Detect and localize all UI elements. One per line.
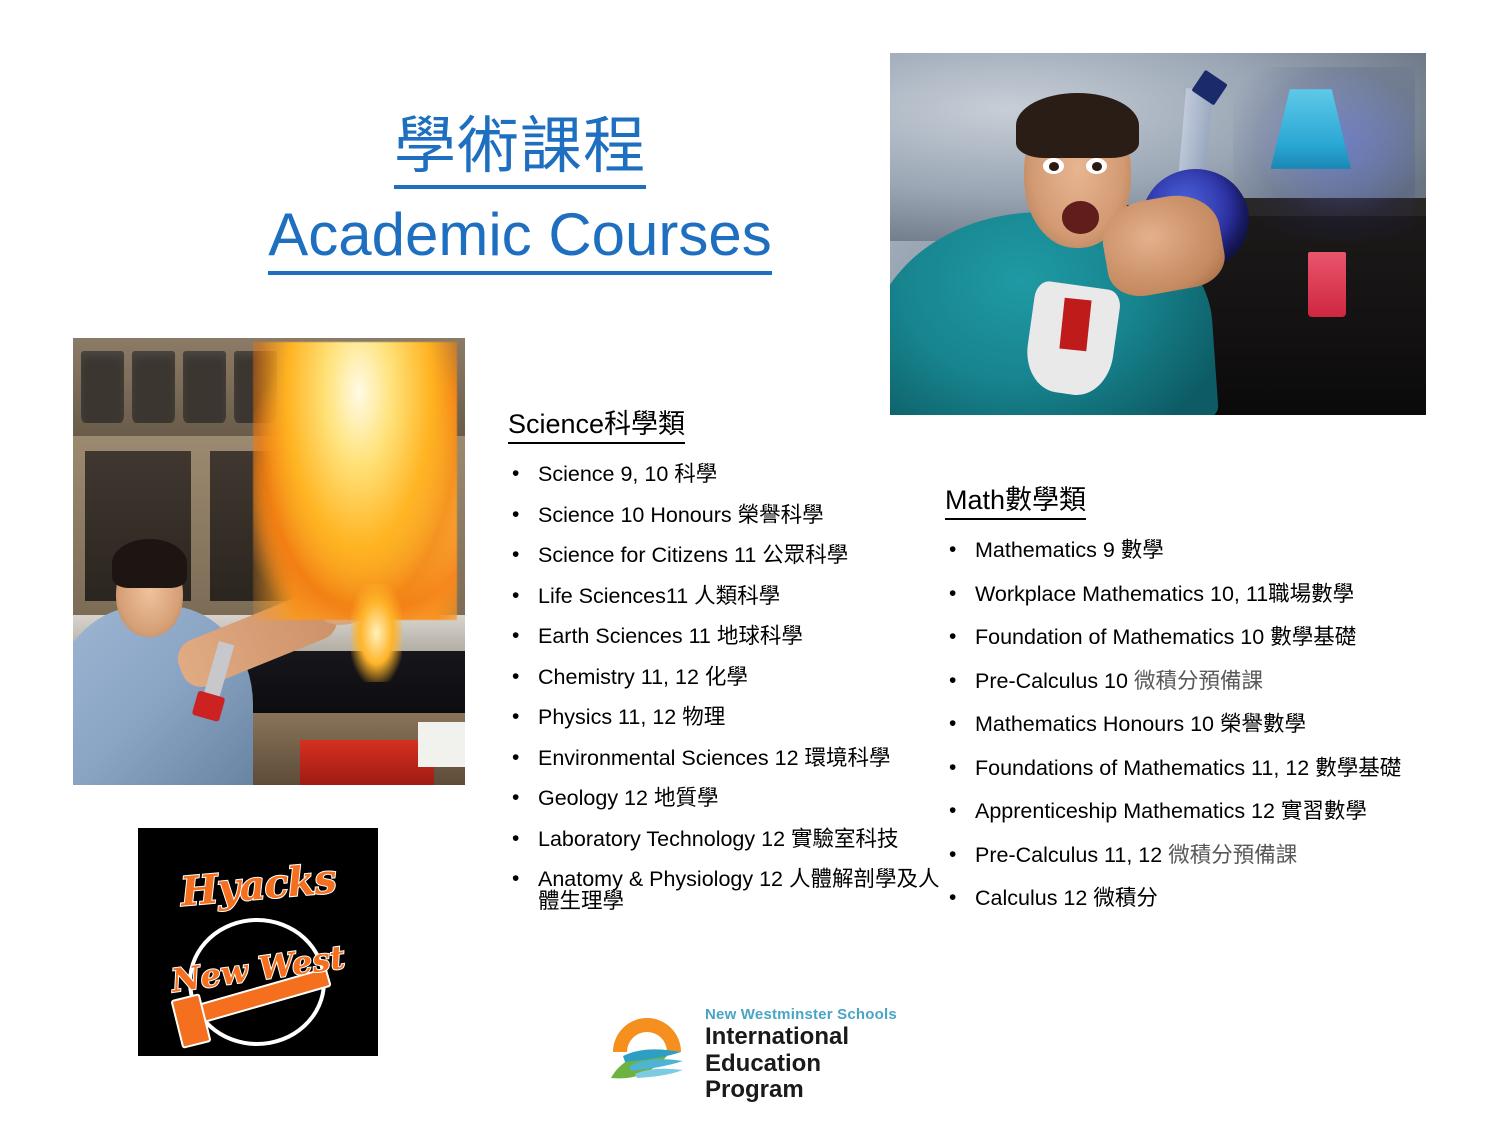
list-item: Pre-Calculus 10 微積分預備課 [945, 671, 1465, 693]
photo-white-tray [418, 722, 465, 767]
title-chinese-line: 學術課程 [180, 112, 860, 189]
list-item: Apprenticeship Mathematics 12 實習數學 [945, 801, 1465, 823]
photo-bucket [81, 351, 124, 423]
photo-hair [1016, 93, 1139, 158]
list-item: Science for Citizens 11 公眾科學 [508, 545, 948, 567]
title-english-line: Academic Courses [180, 189, 860, 275]
international-education-program-logo: New Westminster Schools International Ed… [605, 1006, 905, 1088]
photo-fireball-flame [253, 342, 457, 619]
photo-teacher-with-flame [73, 338, 465, 785]
math-heading: Math數學類 [945, 478, 1086, 520]
iep-text-block: New Westminster Schools International Ed… [705, 1006, 905, 1103]
photo-teacher-hair [112, 539, 186, 588]
title-chinese: 學術課程 [394, 112, 646, 189]
iep-sun-waves-hill-icon [605, 1008, 697, 1084]
math-courses-column: Math數學類 Mathematics 9 數學 Workplace Mathe… [945, 478, 1465, 932]
hyacks-new-west-logo: Hyacks New West [138, 828, 378, 1056]
title-english: Academic Courses [268, 201, 772, 275]
list-item: Science 10 Honours 榮譽科學 [508, 505, 948, 527]
photo-open-mouth [1062, 201, 1100, 234]
list-item: Chemistry 11, 12 化學 [508, 667, 948, 689]
list-item: Workplace Mathematics 10, 11職場數學 [945, 584, 1465, 606]
science-list-wrapper: Science 9, 10 科學 Science 10 Honours 榮譽科學… [508, 464, 948, 912]
list-item: Calculus 12 微積分 [945, 888, 1465, 910]
list-item: Foundations of Mathematics 11, 12 數學基礎 [945, 758, 1465, 780]
photo-bucket [132, 351, 175, 423]
list-item: Pre-Calculus 11, 12 微積分預備課 [945, 845, 1465, 867]
math-course-list: Mathematics 9 數學 Workplace Mathematics 1… [945, 540, 1465, 910]
photo-red-tie [1059, 298, 1091, 351]
list-item: Mathematics 9 數學 [945, 540, 1465, 562]
science-heading: Science科學類 [508, 402, 685, 444]
list-item: Life Sciences11 人類科學 [508, 586, 948, 608]
list-item: Physics 11, 12 物理 [508, 707, 948, 729]
photo-flame-tail [351, 584, 402, 682]
science-courses-column: Science科學類 Science 9, 10 科學 Science 10 H… [508, 402, 948, 931]
list-item: Science 9, 10 科學 [508, 464, 948, 486]
list-item: Mathematics Honours 10 榮譽數學 [945, 714, 1465, 736]
photo-scientist-with-flask [890, 53, 1426, 415]
hyacks-wordmark: Hyacks [136, 852, 379, 920]
list-item: Environmental Sciences 12 環境科學 [508, 748, 948, 770]
photo-red-tray [300, 740, 433, 785]
photo-bucket [183, 351, 226, 423]
list-item: Foundation of Mathematics 10 數學基礎 [945, 627, 1465, 649]
science-course-list: Science 9, 10 科學 Science 10 Honours 榮譽科學… [508, 464, 948, 912]
slide-title: 學術課程 Academic Courses [180, 112, 860, 275]
list-item: Anatomy & Physiology 12 人體解剖學及人體生理學 [508, 869, 948, 912]
list-item: Geology 12 地質學 [508, 788, 948, 810]
list-item: Earth Sciences 11 地球科學 [508, 626, 948, 648]
iep-subtitle: New Westminster Schools [705, 1006, 905, 1023]
photo-red-jar [1308, 252, 1346, 317]
iep-line-1: International [705, 1024, 905, 1050]
math-list-wrapper: Mathematics 9 數學 Workplace Mathematics 1… [945, 540, 1465, 910]
iep-line-2: Education Program [705, 1051, 905, 1103]
list-item: Laboratory Technology 12 實驗室科技 [508, 829, 948, 851]
